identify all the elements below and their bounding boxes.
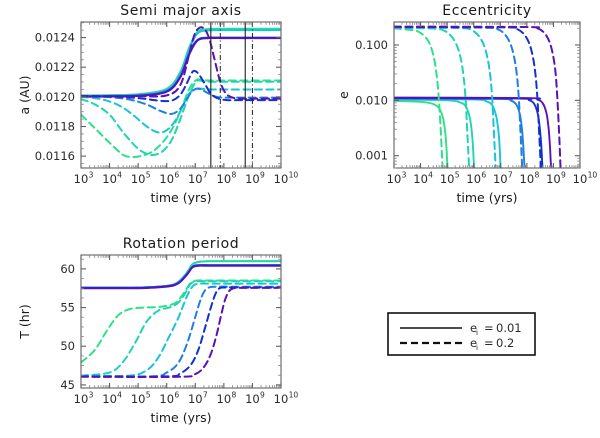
svg-text:3: 3 bbox=[89, 391, 94, 400]
svg-text:10: 10 bbox=[217, 172, 232, 186]
svg-text:10: 10 bbox=[102, 172, 117, 186]
y-axis-label-eccentricity: e bbox=[336, 91, 351, 99]
legend-entry-1-value: 0.2 bbox=[496, 336, 514, 350]
svg-text:10: 10 bbox=[159, 172, 174, 186]
svg-text:10: 10 bbox=[188, 172, 203, 186]
svg-text:4: 4 bbox=[117, 391, 122, 400]
svg-text:8: 8 bbox=[534, 171, 539, 180]
svg-text:6: 6 bbox=[174, 391, 179, 400]
svg-text:3: 3 bbox=[402, 171, 407, 180]
svg-text:6: 6 bbox=[481, 171, 486, 180]
svg-text:10: 10 bbox=[188, 392, 203, 406]
svg-text:10: 10 bbox=[159, 392, 174, 406]
svg-text:10: 10 bbox=[74, 392, 89, 406]
panel-title-semi-major-axis: Semi major axis bbox=[120, 3, 241, 19]
panel-title-eccentricity: Eccentricity bbox=[442, 3, 531, 19]
svg-text:9: 9 bbox=[260, 171, 265, 180]
svg-text:10: 10 bbox=[217, 392, 232, 406]
svg-text:10: 10 bbox=[74, 172, 89, 186]
legend-entry-1-subscript: i bbox=[476, 343, 478, 352]
figure-background bbox=[0, 0, 600, 438]
svg-text:10: 10 bbox=[245, 172, 260, 186]
y-tick-label: 0.100 bbox=[355, 38, 388, 52]
svg-text:10: 10 bbox=[245, 392, 260, 406]
svg-text:5: 5 bbox=[455, 171, 460, 180]
svg-text:10: 10 bbox=[289, 391, 299, 400]
svg-text:10: 10 bbox=[289, 171, 299, 180]
svg-text:10: 10 bbox=[493, 172, 508, 186]
svg-text:10: 10 bbox=[440, 172, 455, 186]
svg-text:8: 8 bbox=[231, 391, 236, 400]
y-tick-label: 45 bbox=[60, 378, 75, 392]
svg-text:7: 7 bbox=[203, 391, 208, 400]
svg-text:10: 10 bbox=[274, 392, 289, 406]
x-axis-label-rotation-period: time (yrs) bbox=[150, 410, 211, 425]
y-tick-label: 0.0118 bbox=[35, 119, 75, 133]
y-tick-label: 60 bbox=[60, 262, 75, 276]
x-axis-label-eccentricity: time (yrs) bbox=[456, 190, 517, 205]
svg-text:10: 10 bbox=[546, 172, 561, 186]
svg-text:10: 10 bbox=[413, 172, 428, 186]
figure-canvas: Semi major axis 103104105106107108109101… bbox=[0, 0, 600, 438]
legend-entry-0-value: 0.01 bbox=[496, 321, 522, 335]
svg-text:10: 10 bbox=[588, 171, 598, 180]
panel-title-rotation-period: Rotation period bbox=[123, 236, 240, 252]
svg-text:3: 3 bbox=[89, 171, 94, 180]
svg-text:10: 10 bbox=[573, 172, 588, 186]
svg-text:10: 10 bbox=[387, 172, 402, 186]
svg-text:10: 10 bbox=[102, 392, 117, 406]
svg-text:6: 6 bbox=[174, 171, 179, 180]
x-axis-label-semi-major-axis: time (yrs) bbox=[150, 190, 211, 205]
svg-text:5: 5 bbox=[146, 391, 151, 400]
y-axis-label-rotation-period: T (hr) bbox=[17, 304, 32, 339]
svg-text:7: 7 bbox=[508, 171, 513, 180]
y-tick-label: 0.0116 bbox=[35, 149, 75, 163]
svg-text:9: 9 bbox=[561, 171, 566, 180]
svg-text:7: 7 bbox=[203, 171, 208, 180]
svg-text:4: 4 bbox=[117, 171, 122, 180]
svg-text:10: 10 bbox=[274, 172, 289, 186]
svg-text:4: 4 bbox=[428, 171, 433, 180]
y-tick-label: 50 bbox=[60, 339, 75, 353]
svg-text:10: 10 bbox=[131, 172, 146, 186]
y-tick-label: 0.001 bbox=[355, 149, 388, 163]
svg-text:10: 10 bbox=[466, 172, 481, 186]
svg-text:10: 10 bbox=[520, 172, 535, 186]
y-tick-label: 55 bbox=[60, 301, 75, 315]
y-tick-label: 0.0120 bbox=[35, 90, 75, 104]
y-tick-label: 0.0122 bbox=[35, 60, 75, 74]
svg-text:10: 10 bbox=[131, 392, 146, 406]
legend: e i = 0.01 e i = 0.2 bbox=[388, 313, 535, 355]
legend-entry-1-equals: = bbox=[484, 336, 494, 350]
svg-text:8: 8 bbox=[231, 171, 236, 180]
svg-text:9: 9 bbox=[260, 391, 265, 400]
y-axis-label-semi-major-axis: a (AU) bbox=[17, 75, 32, 114]
y-tick-label: 0.0124 bbox=[35, 31, 75, 45]
legend-entry-0-equals: = bbox=[484, 321, 494, 335]
y-tick-label: 0.010 bbox=[355, 93, 388, 107]
svg-text:5: 5 bbox=[146, 171, 151, 180]
